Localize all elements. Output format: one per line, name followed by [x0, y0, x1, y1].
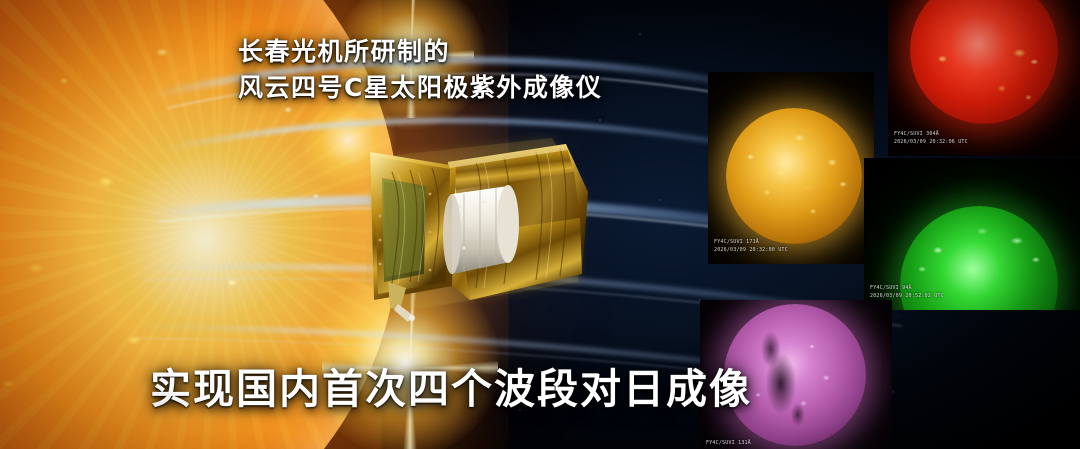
panel-94-timestamp: 2026/03/09 20:52:02 UTC: [870, 293, 944, 301]
headline: 长春光机所研制的 风云四号C星太阳极紫外成像仪: [238, 34, 602, 105]
headline-line2: 风云四号C星太阳极紫外成像仪: [238, 70, 602, 106]
panel-304-label: FY4C/SUVI 304Å 2026/03/09 20:32:06 UTC: [894, 131, 968, 146]
headline-line1: 长春光机所研制的: [238, 37, 450, 66]
solar-image-panel-304[interactable]: FY4C/SUVI 304Å 2026/03/09 20:32:06 UTC: [888, 0, 1080, 156]
solar-disk-304-texture: [910, 0, 1058, 124]
solar-disk-171-texture: [726, 108, 862, 244]
fy4c-euv-imager: [352, 132, 598, 332]
panel-304-instrument: FY4C/SUVI 304Å: [894, 131, 968, 139]
panel-304-timestamp: 2026/03/09 20:32:06 UTC: [894, 139, 968, 147]
panel-magenta-instrument: FY4C/SUVI 131Å: [706, 440, 751, 448]
solar-image-panel-94[interactable]: FY4C/SUVI 94Å 2026/03/09 20:52:02 UTC: [864, 158, 1080, 310]
panel-171-instrument: FY4C/SUVI 171Å: [714, 239, 788, 247]
panel-171-label: FY4C/SUVI 171Å 2026/03/09 20:32:00 UTC: [714, 239, 788, 254]
panel-94-instrument: FY4C/SUVI 94Å: [870, 285, 944, 293]
panel-94-label: FY4C/SUVI 94Å 2026/03/09 20:52:02 UTC: [870, 285, 944, 300]
bottom-banner-text: 实现国内首次四个波段对日成像: [150, 367, 752, 413]
solar-disk-304: [910, 0, 1058, 124]
panel-171-timestamp: 2026/03/09 20:32:00 UTC: [714, 247, 788, 255]
image-canvas: FY4C/SUVI 171Å 2026/03/09 20:32:00 UTC F…: [0, 0, 1080, 449]
panel-magenta-label: FY4C/SUVI 131Å: [706, 440, 751, 448]
solar-disk-171: [726, 108, 862, 244]
solar-image-panel-171[interactable]: FY4C/SUVI 171Å 2026/03/09 20:32:00 UTC: [708, 72, 874, 264]
